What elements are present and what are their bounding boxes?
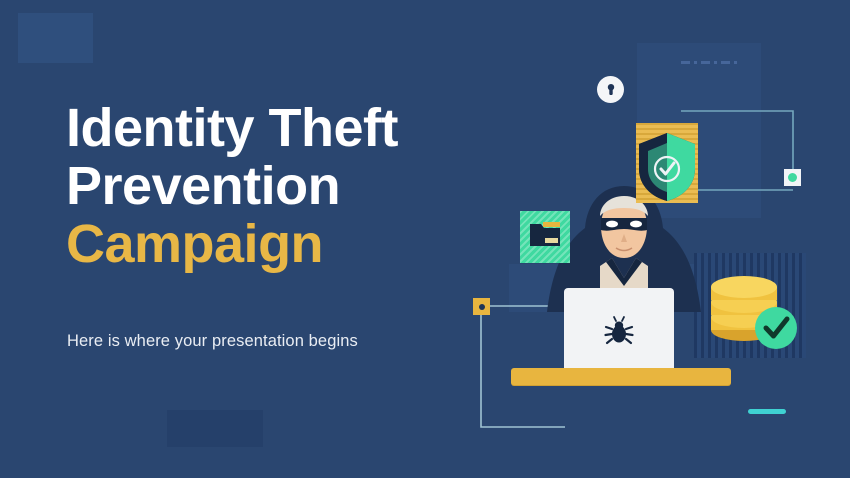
green-node-icon (784, 169, 801, 186)
teal-dash-icon (748, 409, 786, 414)
masked-code-icon (681, 61, 737, 64)
bug-icon (604, 316, 634, 346)
hacker-eye-left (606, 221, 618, 228)
hacker-eye-right (630, 221, 642, 228)
shield-check-icon (636, 123, 698, 203)
shield-glyph (636, 131, 698, 203)
presentation-cover-slide: Identity Theft Prevention Campaign Here … (0, 0, 850, 478)
lock-badge-icon (597, 76, 624, 103)
folder-glyph (529, 220, 561, 248)
verified-check-badge (755, 307, 797, 349)
node-dot (788, 173, 797, 182)
laptop-base (511, 368, 731, 385)
coins-stack-icon (704, 262, 800, 354)
yellow-node-icon (473, 298, 490, 315)
illustration-group (0, 0, 850, 478)
padlock-icon (605, 82, 617, 97)
folder-icon (520, 211, 570, 263)
node-dot (479, 304, 485, 310)
